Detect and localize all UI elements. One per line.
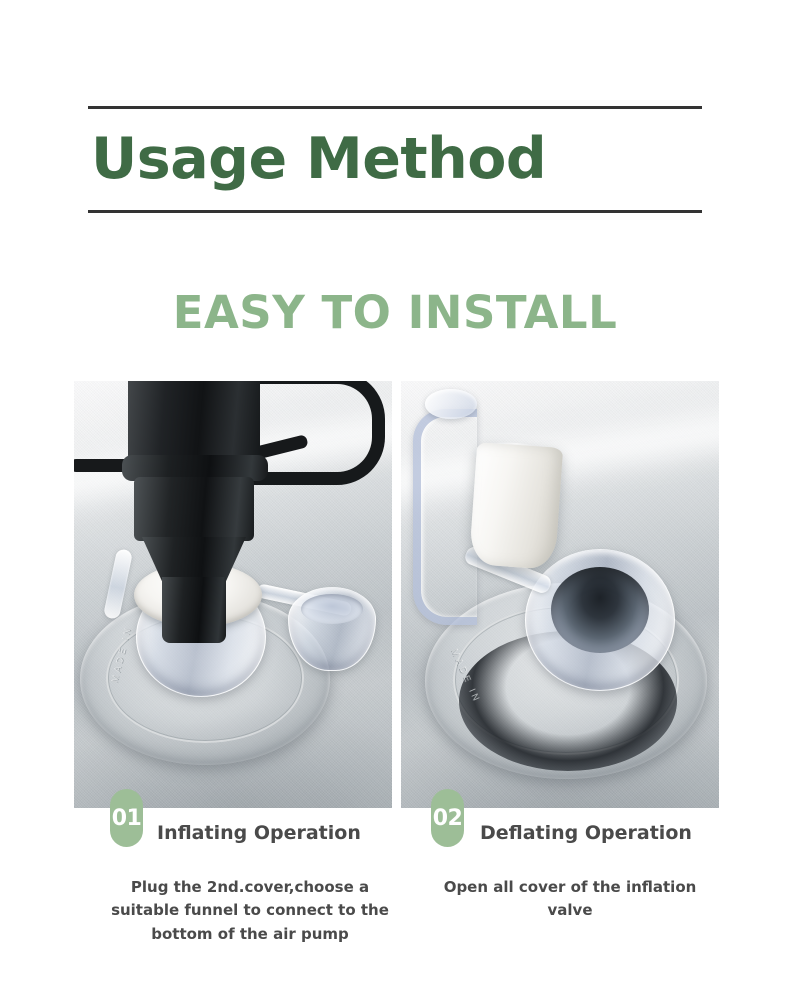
step-description-inflating: Plug the 2nd.cover,choose a suitable fun…	[100, 876, 400, 946]
air-pump-nozzle-tip	[162, 577, 226, 643]
page-title-row: Usage Method	[88, 109, 702, 210]
page-title: Usage Method	[91, 131, 546, 188]
air-pump-body	[128, 381, 260, 461]
step-image-inflating: MADE IN	[74, 381, 392, 808]
step-description-deflating: Open all cover of the inflation valve	[420, 876, 720, 923]
white-valve-cap	[469, 442, 563, 570]
step-image-row: MADE IN MADE IN	[74, 381, 719, 808]
valve-open-mouth	[551, 567, 649, 653]
air-pump-midsection	[134, 477, 254, 541]
spare-funnel-cap-opening	[301, 594, 363, 624]
step-image-deflating: MADE IN	[401, 381, 719, 808]
page-subtitle: EASY TO INSTALL	[0, 290, 790, 335]
header-rule-bottom	[88, 210, 702, 213]
step-badge-01: 01	[110, 789, 143, 847]
step-badge-02: 02	[431, 789, 464, 847]
step-title-inflating: Inflating Operation	[157, 822, 361, 844]
valve-cap-hinge-tab	[425, 389, 477, 419]
valve-cap-hinge-loop	[413, 409, 477, 625]
page-header: Usage Method	[88, 106, 702, 213]
step-title-deflating: Deflating Operation	[480, 822, 692, 844]
